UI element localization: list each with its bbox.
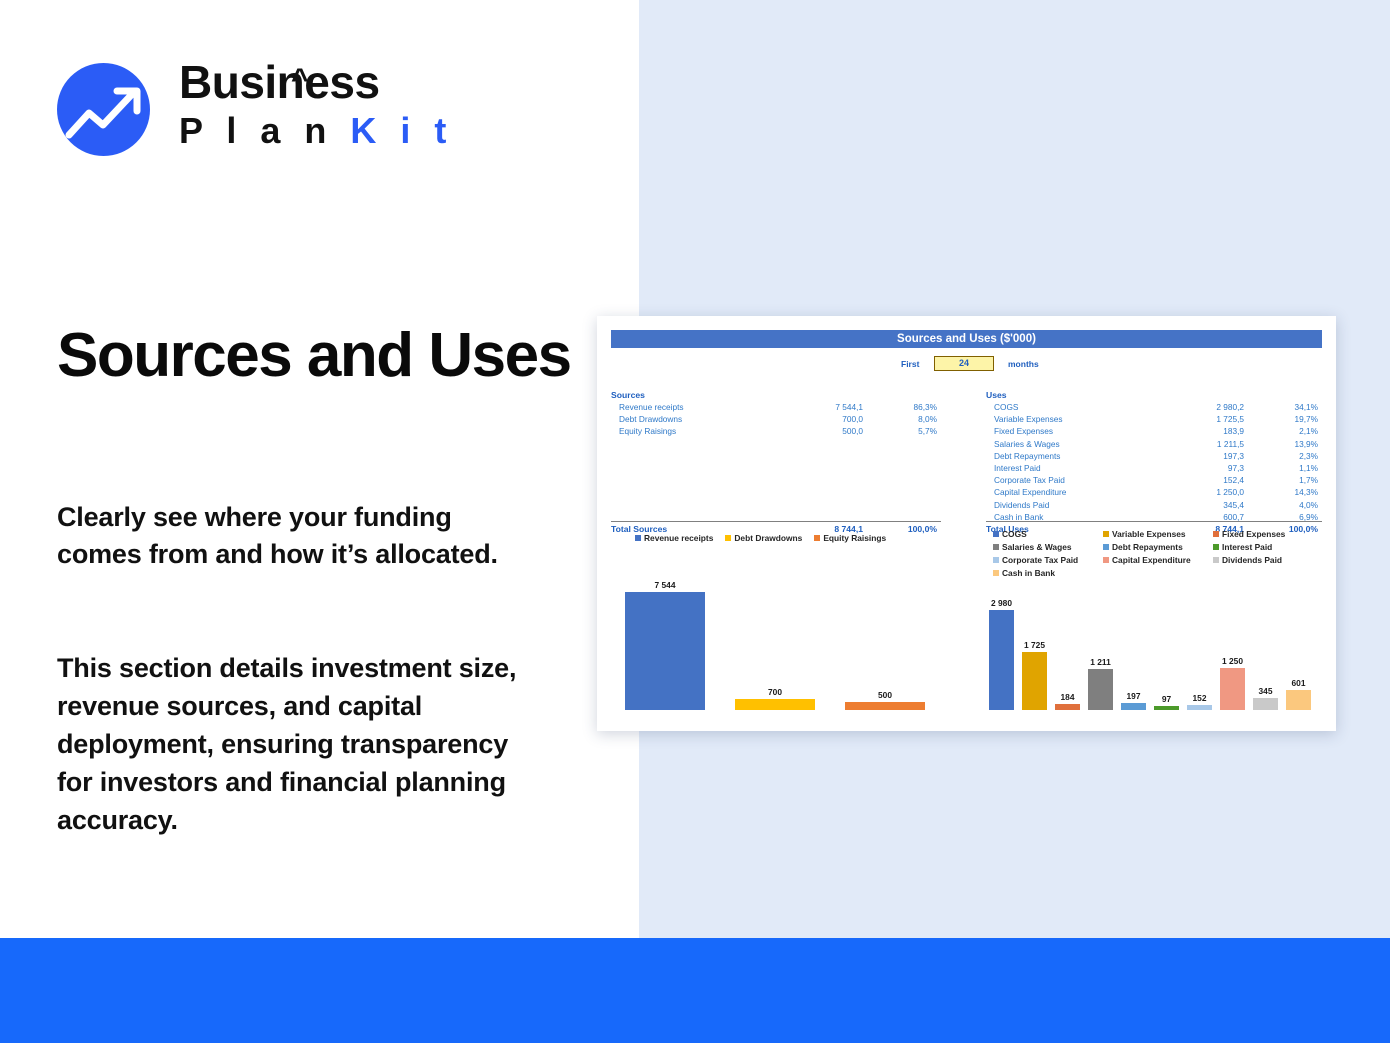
table-row: Salaries & Wages1 211,513,9% [986,438,1322,450]
sources-rows-container: Revenue receipts7 544,186,3%Debt Drawdow… [611,401,941,438]
brand-logo: Business ^ P l a n K i t [57,55,457,160]
legend-item[interactable]: Debt Repayments [1103,542,1213,552]
bar [1220,668,1245,710]
bar-value-label: 601 [1281,678,1316,688]
sources-row-value: 700,0 [842,413,863,425]
bar-group: 700 [735,563,815,718]
legend-swatch-icon [1213,544,1219,550]
bar-group: 197 [1121,563,1146,718]
bar [1187,705,1212,710]
table-row: Interest Paid97,31,1% [986,462,1322,474]
legend-swatch-icon [1213,557,1219,563]
uses-row-percent: 1,7% [1299,474,1318,486]
sources-row-percent: 86,3% [913,401,937,413]
uses-row-name: Variable Expenses [994,413,1063,425]
legend-item[interactable]: Variable Expenses [1103,529,1213,539]
bar-value-label: 7 544 [609,580,721,590]
uses-bar-chart: 2 9801 7251841 211197971521 250345601 [983,563,1323,718]
uses-row-percent: 4,0% [1299,499,1318,511]
legend-swatch-icon [635,535,641,541]
period-prefix-label: First [901,359,919,369]
table-row: Debt Repayments197,32,3% [986,450,1322,462]
uses-row-percent: 14,3% [1294,486,1318,498]
sources-row-percent: 8,0% [918,413,937,425]
uses-row-name: Salaries & Wages [994,438,1060,450]
intro-paragraph-2: This section details investment size, re… [57,649,527,839]
uses-row-name: Debt Repayments [994,450,1060,462]
uses-row-value: 1 211,5 [1217,438,1244,450]
uses-row-name: Capital Expenditure [994,486,1066,498]
bar-value-label: 345 [1248,686,1283,696]
bar-group: 2 980 [989,563,1014,718]
uses-row-value: 1 725,5 [1216,413,1244,425]
bar [1286,690,1311,710]
bar [625,592,705,710]
bar [1121,703,1146,710]
period-suffix-label: months [1008,359,1039,369]
legend-swatch-icon [1103,544,1109,550]
uses-row-name: COGS [994,401,1018,413]
brand-wordmark: Business ^ P l a n K i t [179,55,453,153]
bar [1154,706,1179,710]
uses-row-percent: 2,1% [1299,425,1318,437]
sources-table: Sources Revenue receipts7 544,186,3%Debt… [611,390,941,438]
legend-item[interactable]: Interest Paid [1213,542,1323,552]
legend-swatch-icon [1213,531,1219,537]
uses-row-value: 345,4 [1223,499,1244,511]
bar-group: 7 544 [625,563,705,718]
uses-row-value: 197,3 [1223,450,1244,462]
period-selector-row: First 24 months [611,356,1322,373]
legend-item[interactable]: Salaries & Wages [993,542,1103,552]
sources-row-percent: 5,7% [918,425,937,437]
uses-row-name: Interest Paid [994,462,1041,474]
legend-label: Equity Raisings [823,533,886,543]
legend-item[interactable]: Revenue receipts [635,533,713,543]
bar-group: 345 [1253,563,1278,718]
bar-group: 152 [1187,563,1212,718]
bar-group: 500 [845,563,925,718]
uses-row-percent: 19,7% [1294,413,1318,425]
bar-value-label: 1 725 [1017,640,1052,650]
legend-swatch-icon [1103,531,1109,537]
bar [735,699,815,710]
bar-group: 1 211 [1088,563,1113,718]
uses-row-percent: 13,9% [1294,438,1318,450]
bar-value-label: 1 250 [1215,656,1250,666]
legend-item[interactable]: Equity Raisings [814,533,886,543]
uses-rows-container: COGS2 980,234,1%Variable Expenses1 725,5… [986,401,1322,523]
legend-label: Variable Expenses [1112,529,1186,539]
table-row: COGS2 980,234,1% [986,401,1322,413]
intro-paragraph-1: Clearly see where your funding comes fro… [57,499,527,573]
bar-value-label: 184 [1050,692,1085,702]
bar-value-label: 700 [719,687,831,697]
brand-line-2: P l a n K i t [179,109,453,153]
bar-group: 1 250 [1220,563,1245,718]
legend-label: Debt Drawdowns [734,533,802,543]
brand-name-kit: K i t [350,110,453,151]
table-row: Equity Raisings500,05,7% [611,425,941,437]
bar-value-label: 197 [1116,691,1151,701]
bar-value-label: 2 980 [984,598,1019,608]
legend-swatch-icon [725,535,731,541]
legend-label: Revenue receipts [644,533,713,543]
bar-value-label: 97 [1149,694,1184,704]
sources-bar-chart: 7 544700500 [611,563,941,718]
table-row: Corporate Tax Paid152,41,7% [986,474,1322,486]
sources-row-name: Revenue receipts [619,401,684,413]
uses-row-percent: 34,1% [1294,401,1318,413]
uses-row-percent: 1,1% [1299,462,1318,474]
brand-line-1: Business ^ [179,55,453,109]
brand-name-plan: P l a n [179,110,350,151]
legend-label: COGS [1002,529,1027,539]
bar [1253,698,1278,710]
uses-row-name: Corporate Tax Paid [994,474,1065,486]
circumflex-accent: ^ [291,53,308,107]
table-row: Capital Expenditure1 250,014,3% [986,486,1322,498]
worksheet-title-bar: Sources and Uses ($'000) [611,330,1322,348]
sources-and-uses-worksheet[interactable]: Sources and Uses ($'000) First 24 months… [597,316,1336,731]
uses-row-percent: 2,3% [1299,450,1318,462]
uses-row-value: 1 250,0 [1216,486,1244,498]
legend-label: Interest Paid [1222,542,1272,552]
legend-swatch-icon [993,544,999,550]
uses-table-header: Uses [986,390,1322,400]
table-row: Debt Drawdowns700,08,0% [611,413,941,425]
sources-row-value: 500,0 [842,425,863,437]
bar-value-label: 500 [829,690,941,700]
legend-item[interactable]: Debt Drawdowns [725,533,802,543]
chart-arrow-up-icon [57,63,150,156]
bar-value-label: 1 211 [1083,657,1118,667]
bar [1055,704,1080,710]
bar [1022,652,1047,710]
legend-label: Debt Repayments [1112,542,1183,552]
uses-row-name: Dividends Paid [994,499,1049,511]
sources-row-value: 7 544,1 [835,401,863,413]
table-row: Revenue receipts7 544,186,3% [611,401,941,413]
table-row: Fixed Expenses183,92,1% [986,425,1322,437]
legend-swatch-icon [993,557,999,563]
legend-label: Salaries & Wages [1002,542,1072,552]
sources-row-name: Equity Raisings [619,425,676,437]
legend-swatch-icon [993,531,999,537]
bar-group: 184 [1055,563,1080,718]
legend-label: Fixed Expenses [1222,529,1285,539]
bar-group: 1 725 [1022,563,1047,718]
uses-row-value: 2 980,2 [1216,401,1244,413]
sources-chart-legend: Revenue receiptsDebt DrawdownsEquity Rai… [635,533,925,546]
table-row: Variable Expenses1 725,519,7% [986,413,1322,425]
uses-table: Uses COGS2 980,234,1%Variable Expenses1 … [986,390,1322,523]
legend-item[interactable]: Fixed Expenses [1213,529,1323,539]
sources-table-header: Sources [611,390,941,400]
legend-swatch-icon [1103,557,1109,563]
uses-row-value: 183,9 [1223,425,1244,437]
brand-name-business: Business [179,56,380,108]
bar [1088,669,1113,710]
page-title: Sources and Uses [57,322,577,389]
uses-row-value: 152,4 [1223,474,1244,486]
bar-group: 601 [1286,563,1311,718]
uses-row-value: 97,3 [1228,462,1244,474]
bar-value-label: 152 [1182,693,1217,703]
bar [845,702,925,710]
legend-item[interactable]: COGS [993,529,1103,539]
bar [989,610,1014,710]
bar-group: 97 [1154,563,1179,718]
footer-accent-bar [0,938,1390,1043]
legend-swatch-icon [814,535,820,541]
table-row: Dividends Paid345,44,0% [986,499,1322,511]
sources-row-name: Debt Drawdowns [619,413,682,425]
months-input[interactable]: 24 [934,356,994,371]
uses-row-name: Fixed Expenses [994,425,1053,437]
